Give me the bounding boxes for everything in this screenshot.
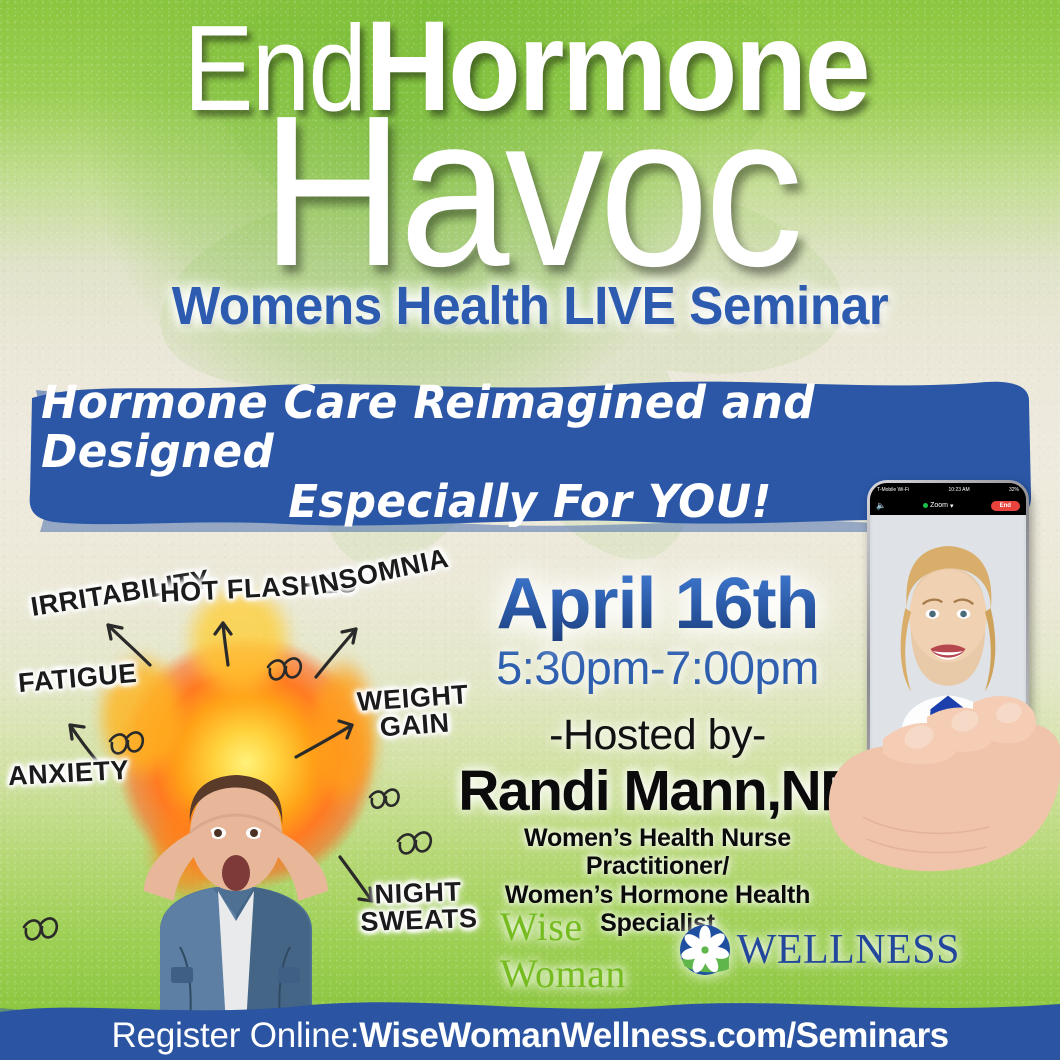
- headline-subtitle: Womens Health LIVE Seminar: [27, 275, 1034, 337]
- hosted-by-label: -Hosted by-: [455, 711, 860, 760]
- zoom-app-indicator[interactable]: Zoom ▾: [923, 502, 953, 510]
- logo-wise-woman-text: Wise Woman: [500, 903, 673, 997]
- phone-status-bar: T-Mobile Wi-Fi 10:23 AM 32%: [870, 483, 1026, 496]
- tagline-line-1: Hormone Care Reimagined and Designed: [41, 379, 1019, 476]
- event-time: 5:30pm-7:00pm: [455, 643, 860, 692]
- brand-logo: Wise Woman WELLNESS: [500, 920, 960, 980]
- host-role-line-1: Women’s Health Nurse Practitioner/: [455, 824, 860, 881]
- headline-word-havoc: Havoc: [42, 94, 1017, 288]
- host-name: Randi Mann,NP: [455, 758, 860, 824]
- symptom-collage: IRRITABILITY HOT FLASHES INSOMNIA FATIGU…: [0, 545, 470, 1015]
- chevron-down-icon: ▾: [950, 502, 954, 510]
- event-date: April 16th: [455, 568, 860, 641]
- flower-logo-icon: [679, 924, 731, 976]
- end-call-button[interactable]: End: [991, 501, 1020, 511]
- logo-wellness-text: WELLNESS: [737, 926, 960, 974]
- footer-text: Register Online:WiseWomanWellness.com/Se…: [0, 998, 1060, 1060]
- footer-prefix: Register Online:: [112, 1016, 360, 1056]
- battery-label: 32%: [1009, 487, 1019, 493]
- headline-block: EndHormone Havoc Womens Health LIVE Semi…: [0, 6, 1060, 337]
- carrier-label: T-Mobile Wi-Fi: [877, 487, 909, 493]
- footer-url[interactable]: WiseWomanWellness.com/Seminars: [359, 1016, 948, 1056]
- speaker-icon[interactable]: 🔈: [876, 501, 886, 510]
- clock-label: 10:23 AM: [949, 487, 970, 493]
- symptom-label-anxiety: ANXIETY: [7, 757, 129, 790]
- recording-dot-icon: [923, 503, 928, 508]
- hand-holding-phone: [823, 667, 1060, 882]
- tagline-line-2: Especially For YOU!: [288, 478, 772, 527]
- seminar-flyer: EndHormone Havoc Womens Health LIVE Semi…: [0, 0, 1060, 1060]
- event-details: April 16th 5:30pm-7:00pm -Hosted by- Ran…: [455, 568, 860, 938]
- phone-mockup: T-Mobile Wi-Fi 10:23 AM 32% 🔈 Zoom ▾ End: [845, 472, 1060, 872]
- zoom-app-name: Zoom: [930, 502, 948, 509]
- footer-bar: Register Online:WiseWomanWellness.com/Se…: [0, 998, 1060, 1060]
- zoom-top-bar: 🔈 Zoom ▾ End: [870, 496, 1026, 515]
